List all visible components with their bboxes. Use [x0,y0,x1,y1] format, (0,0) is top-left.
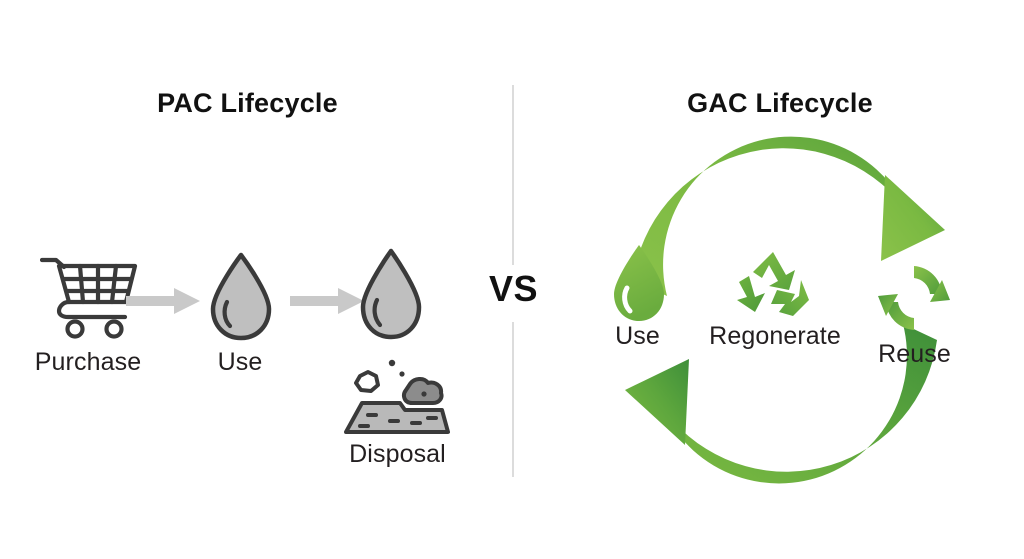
panel-divider-line [512,322,514,477]
step-label-regenerate: Regonerate [690,322,860,351]
gac-lifecycle-title: GAC Lifecycle [595,88,965,119]
water-droplet-icon [355,248,427,342]
pac-lifecycle-title: PAC Lifecycle [75,88,420,119]
shopping-cart-icon [40,255,140,340]
infographic-canvas: PAC Lifecycle GAC Lifecycle Purchase [0,0,1024,559]
versus-label: VS [466,268,561,310]
step-label-reuse: Reuse [862,340,967,369]
step-label-disposal: Disposal [325,440,470,469]
step-label-use-gac: Use [590,322,685,351]
step-label-use-pac: Use [185,348,295,377]
landfill-waste-icon [340,358,450,436]
arrow-right-icon [126,288,200,314]
circular-arrows-icon [878,262,950,334]
water-droplet-icon [608,243,670,323]
water-droplet-icon [205,252,277,342]
panel-divider-line [512,85,514,265]
recycle-icon [723,250,823,322]
arrow-right-icon [290,288,364,314]
step-label-purchase: Purchase [8,348,168,377]
